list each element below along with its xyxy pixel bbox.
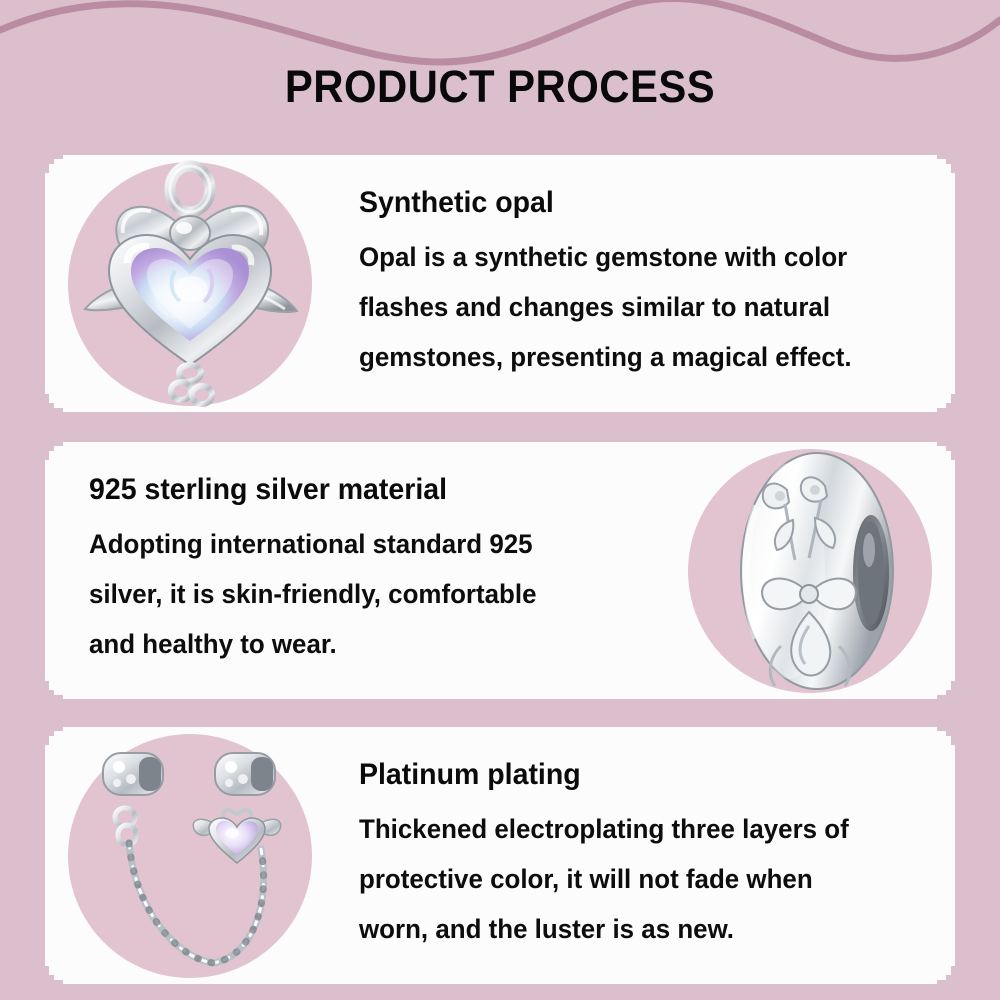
card-3-body-line-3: worn, and the luster is as new.: [359, 904, 914, 954]
corner-notch: [54, 155, 63, 159]
corner-notch: [937, 155, 946, 159]
corner-notch: [45, 736, 49, 745]
corner-notch: [946, 690, 955, 699]
card-1-body-line-1: Opal is a synthetic gemstone with color: [359, 232, 914, 282]
card-2-body-line-1: Adopting international standard 925: [89, 519, 632, 569]
card-2-body-line-3: and healthy to wear.: [89, 619, 632, 669]
corner-notch: [946, 442, 955, 451]
platinum-plated-safety-chain-image: [45, 727, 335, 984]
corner-notch: [45, 164, 49, 173]
corner-notch: [45, 155, 54, 164]
card-3-text: Platinum plating Thickened electroplatin…: [335, 758, 955, 954]
card-1-body-line-3: gemstones, presenting a magical effect.: [359, 332, 914, 382]
corner-notch: [937, 727, 946, 731]
corner-notch: [946, 727, 955, 736]
card-1-heading: Synthetic opal: [359, 186, 908, 220]
corner-notch: [951, 681, 955, 690]
corner-notch: [937, 980, 946, 984]
corner-notch: [951, 966, 955, 975]
corner-notch: [45, 975, 54, 984]
corner-notch: [951, 164, 955, 173]
card-1-content: Synthetic opal Opal is a synthetic gemst…: [45, 155, 955, 412]
card-3-content: Platinum plating Thickened electroplatin…: [45, 727, 955, 984]
card-2-content: 925 sterling silver material Adopting in…: [45, 442, 955, 699]
card-2-body-line-2: silver, it is skin-friendly, comfortable: [89, 569, 632, 619]
card-2-text: 925 sterling silver material Adopting in…: [45, 473, 665, 669]
process-card-1: Synthetic opal Opal is a synthetic gemst…: [45, 155, 955, 412]
card-3-body-line-2: protective color, it will not fade when: [359, 854, 914, 904]
corner-notch: [951, 736, 955, 745]
card-1-body-line-2: flashes and changes similar to natural: [359, 282, 914, 332]
card-2-body: Adopting international standard 925 silv…: [89, 519, 632, 669]
card-3-body: Thickened electroplating three layers of…: [359, 804, 914, 954]
card-3-heading: Platinum plating: [359, 758, 908, 792]
infographic-canvas: PRODUCT PROCESS: [0, 0, 1000, 1000]
corner-notch: [946, 403, 955, 412]
corner-notch: [937, 408, 946, 412]
top-wave-decoration: [0, 0, 1000, 70]
corner-notch: [45, 403, 54, 412]
card-1-text: Synthetic opal Opal is a synthetic gemst…: [335, 186, 955, 382]
corner-notch: [45, 394, 49, 403]
corner-notch: [951, 451, 955, 460]
bottom-background-strip: [0, 985, 1000, 1000]
process-card-2: 925 sterling silver material Adopting in…: [45, 442, 955, 699]
card-2-heading: 925 sterling silver material: [89, 473, 627, 507]
page-title: PRODUCT PROCESS: [35, 61, 965, 113]
corner-notch: [45, 442, 54, 451]
corner-notch: [54, 442, 63, 446]
corner-notch: [45, 690, 54, 699]
corner-notch: [946, 975, 955, 984]
card-3-body-line-1: Thickened electroplating three layers of: [359, 804, 914, 854]
corner-notch: [54, 727, 63, 731]
corner-notch: [54, 980, 63, 984]
process-card-3: Platinum plating Thickened electroplatin…: [45, 727, 955, 984]
sterling-silver-floral-clip-bead-image: [665, 442, 955, 699]
corner-notch: [45, 727, 54, 736]
opal-heart-bow-pendant-image: [45, 155, 335, 412]
corner-notch: [54, 695, 63, 699]
wave-fill: [0, 0, 1000, 70]
corner-notch: [45, 681, 49, 690]
corner-notch: [45, 451, 49, 460]
corner-notch: [946, 155, 955, 164]
corner-notch: [937, 442, 946, 446]
corner-notch: [951, 394, 955, 403]
card-1-body: Opal is a synthetic gemstone with color …: [359, 232, 914, 382]
corner-notch: [45, 966, 49, 975]
corner-notch: [937, 695, 946, 699]
corner-notch: [54, 408, 63, 412]
